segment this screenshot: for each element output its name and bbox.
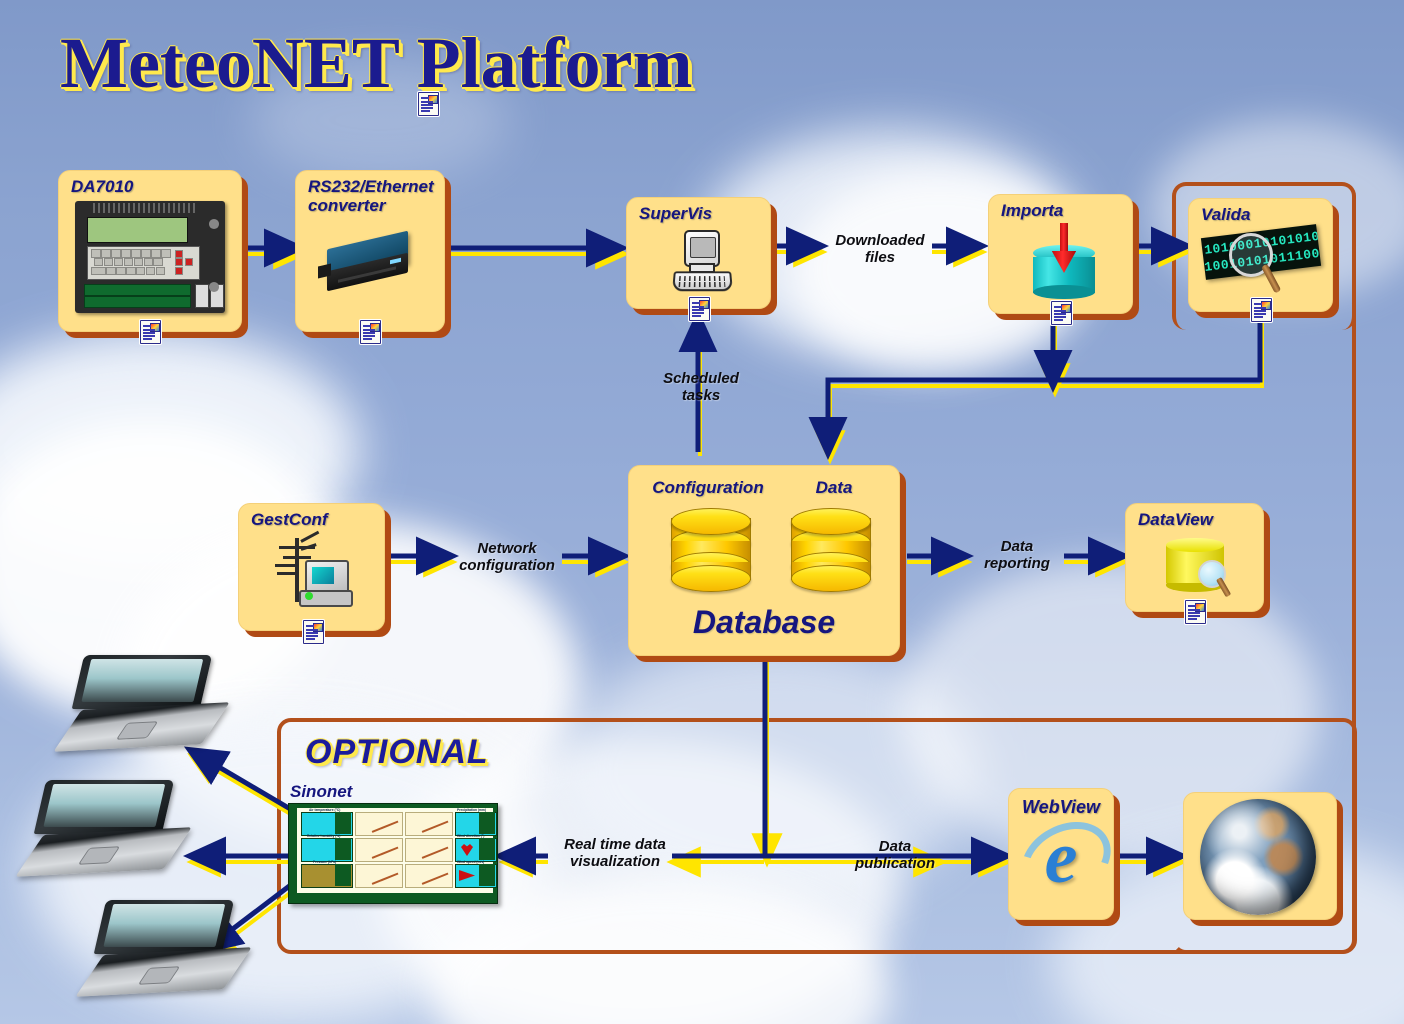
desktop-computer-icon bbox=[669, 226, 731, 298]
document-icon-da7010[interactable] bbox=[140, 320, 161, 344]
node-webview[interactable]: WebView e bbox=[1008, 788, 1114, 920]
edge-label-data-reporting: Data reporting bbox=[962, 538, 1072, 573]
node-valida-label: Valida bbox=[1201, 205, 1250, 225]
sinonet-dashboard[interactable]: Air temperature (°C) Precipitation (mm) … bbox=[288, 803, 498, 904]
client-laptop-3[interactable] bbox=[100, 900, 228, 996]
node-importa[interactable]: Importa bbox=[988, 194, 1133, 314]
node-webview-label: WebView bbox=[1009, 797, 1113, 818]
document-icon-title[interactable] bbox=[418, 92, 439, 116]
node-importa-label: Importa bbox=[1001, 201, 1063, 221]
database-cylinder-data bbox=[791, 508, 869, 590]
binary-magnifier-icon: 10100010101010100 10010101011100101 bbox=[1203, 227, 1321, 303]
client-laptop-2[interactable] bbox=[40, 780, 168, 876]
node-rs232-label: RS232/Ethernet converter bbox=[308, 177, 434, 215]
sinonet-heading: Sinonet bbox=[290, 782, 352, 802]
antenna-computer-icon bbox=[271, 534, 353, 612]
database-title: Database bbox=[629, 604, 899, 641]
cylinder-magnifier-icon bbox=[1164, 536, 1238, 598]
page-title: MeteoNET Platform bbox=[60, 22, 692, 105]
database-store-label-data: Data bbox=[779, 478, 889, 498]
optional-heading: OPTIONAL bbox=[305, 733, 489, 772]
node-rs232-converter[interactable]: RS232/Ethernet converter bbox=[295, 170, 445, 332]
node-supervis[interactable]: SuperVis bbox=[626, 197, 771, 309]
node-da7010[interactable]: DA7010 bbox=[58, 170, 242, 332]
diagram-canvas: MeteoNET Platform bbox=[0, 0, 1404, 1024]
document-icon-gestconf[interactable] bbox=[303, 620, 324, 644]
import-cylinder-icon bbox=[1029, 223, 1099, 297]
database-store-label-configuration: Configuration bbox=[643, 478, 773, 498]
internet-explorer-icon: e bbox=[1023, 821, 1099, 901]
edge-label-scheduled-tasks: Scheduled tasks bbox=[646, 370, 756, 405]
node-internet[interactable] bbox=[1183, 792, 1337, 920]
serial-converter-icon bbox=[316, 223, 428, 301]
node-gestconf-label: GestConf bbox=[251, 510, 328, 530]
document-icon-valida[interactable] bbox=[1251, 298, 1272, 322]
globe-earth-icon bbox=[1200, 799, 1316, 915]
node-supervis-label: SuperVis bbox=[639, 204, 712, 224]
document-icon-supervis[interactable] bbox=[689, 297, 710, 321]
node-gestconf[interactable]: GestConf bbox=[238, 503, 385, 631]
datalogger-icon bbox=[75, 201, 225, 313]
database-cylinder-configuration bbox=[671, 508, 749, 590]
document-icon-rs232[interactable] bbox=[360, 320, 381, 344]
edge-label-realtime-visualization: Real time data visualization bbox=[550, 836, 680, 871]
client-laptop-1[interactable] bbox=[78, 655, 206, 751]
edge-label-data-publication: Data publication bbox=[840, 838, 950, 873]
edge-label-downloaded-files: Downloaded files bbox=[824, 232, 936, 267]
node-dataview-label: DataView bbox=[1138, 510, 1213, 530]
edge-label-network-configuration: Network configuration bbox=[444, 540, 570, 575]
node-valida[interactable]: Valida 10100010101010100 100101010111001… bbox=[1188, 198, 1333, 312]
document-icon-importa[interactable] bbox=[1051, 301, 1072, 325]
node-da7010-label: DA7010 bbox=[71, 177, 133, 197]
node-database[interactable]: Configuration Data Database bbox=[628, 465, 900, 656]
document-icon-dataview[interactable] bbox=[1185, 600, 1206, 624]
node-dataview[interactable]: DataView bbox=[1125, 503, 1264, 612]
